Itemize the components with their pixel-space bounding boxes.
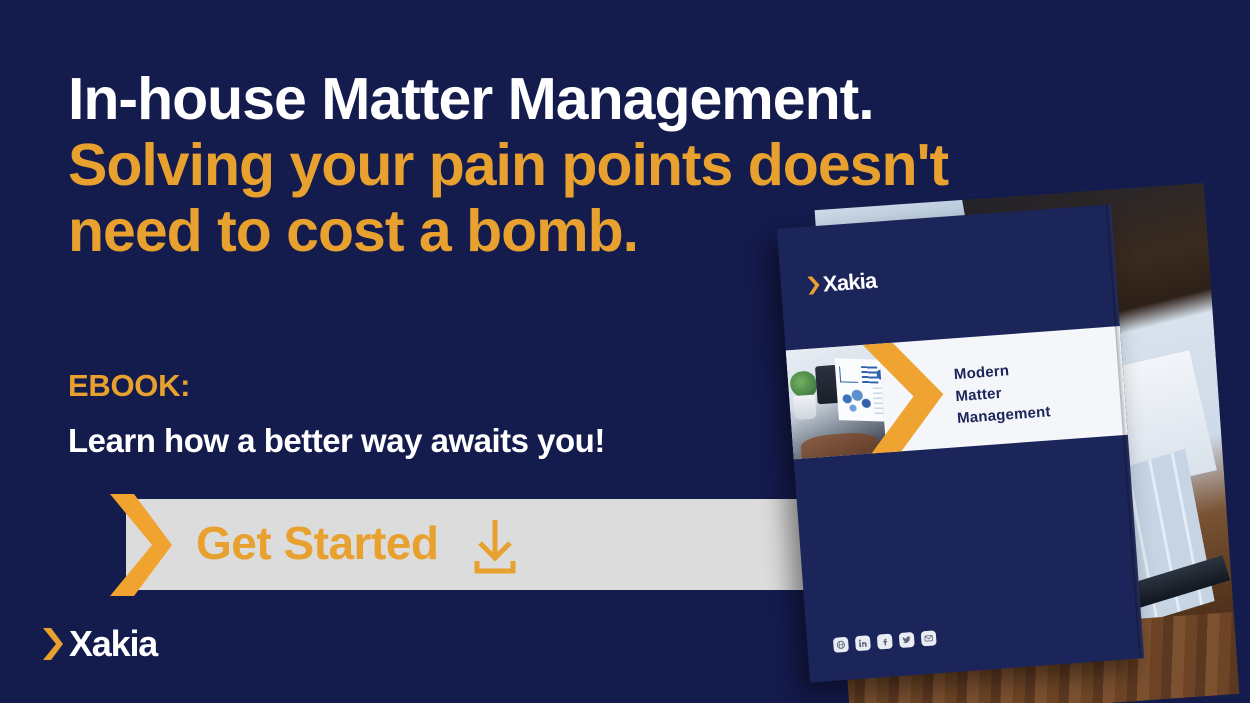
cta-label[interactable]: Get Started	[196, 516, 438, 570]
email-icon	[921, 630, 937, 646]
kicker-block: EBOOK: Learn how a better way awaits you…	[68, 367, 605, 461]
ebook-cover-logo: Xakia	[806, 270, 877, 297]
photo-plant-pot	[793, 395, 817, 421]
download-icon[interactable]	[470, 518, 520, 576]
chevron-right-icon	[857, 333, 948, 459]
facebook-icon	[877, 634, 893, 650]
globe-icon	[833, 637, 849, 653]
kicker-label: EBOOK:	[68, 367, 605, 406]
ebook-cover-mockup: Xakia	[777, 204, 1144, 682]
brand-logo[interactable]: Xakia	[42, 626, 157, 662]
chevron-right-icon	[42, 627, 64, 661]
chevron-right-icon	[806, 275, 820, 296]
chevron-right-icon	[108, 492, 174, 598]
promo-banner: Get Started In-house Matter Management. …	[0, 0, 1250, 703]
ebook-cover-social-icons	[833, 630, 937, 653]
twitter-icon	[899, 632, 915, 648]
headline-line-1: In-house Matter Management.	[68, 66, 1028, 132]
ebook-cover-title: Modern Matter Management	[953, 357, 1051, 429]
ebook-cover-band: Modern Matter Management	[786, 326, 1128, 459]
screen-line-chart	[839, 366, 858, 383]
brand-name: Xakia	[69, 626, 157, 662]
kicker-subtitle: Learn how a better way awaits you!	[68, 420, 605, 461]
ebook-cover-logo-text: Xakia	[822, 270, 877, 296]
linkedin-icon	[855, 635, 871, 651]
